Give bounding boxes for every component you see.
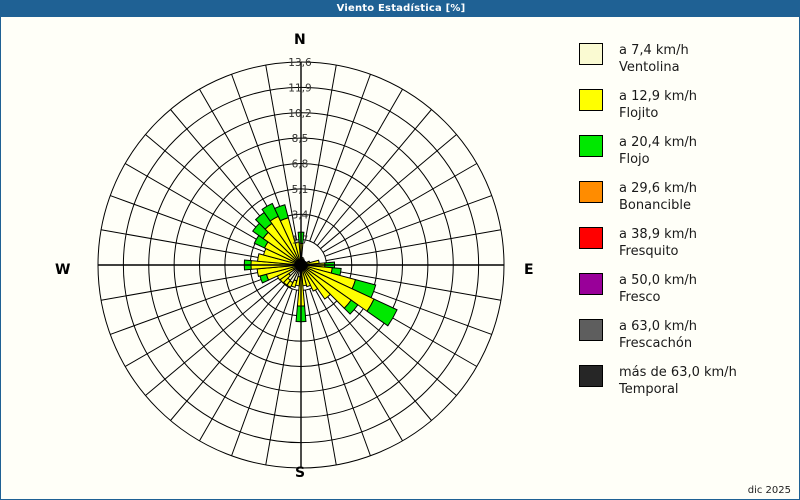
radial-tick-label: 5,1	[292, 184, 309, 196]
compass-label-east: E	[524, 262, 534, 278]
legend-speed-label: a 7,4 km/h	[619, 43, 689, 58]
radial-tick-label: 8,5	[292, 133, 309, 145]
legend-name-label: Frescachón	[619, 335, 697, 352]
legend-label: a 50,0 km/hFresco	[619, 272, 697, 306]
legend-item: a 7,4 km/hVentolina	[579, 42, 793, 80]
legend-label: a 7,4 km/hVentolina	[619, 42, 689, 76]
legend-speed-label: más de 63,0 km/h	[619, 365, 737, 380]
legend-speed-label: a 38,9 km/h	[619, 227, 697, 242]
legend-color-swatch	[579, 273, 603, 295]
legend-name-label: Fresco	[619, 289, 697, 306]
legend-label: a 63,0 km/hFrescachón	[619, 318, 697, 352]
legend-item: más de 63,0 km/hTemporal	[579, 364, 793, 402]
window-title-bar: Viento Estadística [%]	[1, 1, 800, 17]
legend-name-label: Flojito	[619, 105, 697, 122]
legend-name-label: Flojo	[619, 151, 697, 168]
legend-name-label: Ventolina	[619, 59, 689, 76]
legend-name-label: Fresquito	[619, 243, 697, 260]
legend-label: a 38,9 km/hFresquito	[619, 226, 697, 260]
legend-label: a 20,4 km/hFlojo	[619, 134, 697, 168]
radial-tick-label: 11,9	[288, 82, 311, 94]
radial-tick-label: 6,8	[292, 159, 309, 171]
wind-speed-legend: a 7,4 km/hVentolinaa 12,9 km/hFlojitoa 2…	[579, 42, 793, 410]
radial-tick-label: 3,4	[292, 209, 309, 221]
legend-speed-label: a 12,9 km/h	[619, 89, 697, 104]
legend-speed-label: a 63,0 km/h	[619, 319, 697, 334]
wind-statistics-window: Viento Estadística [%] 1,73,45,16,88,510…	[0, 0, 800, 500]
legend-speed-label: a 50,0 km/h	[619, 273, 697, 288]
chart-canvas: 1,73,45,16,88,510,211,913,6 N S W E a 7,…	[1, 18, 799, 499]
radial-tick-label: 1,7	[292, 235, 309, 247]
wind-rose-plot: 1,73,45,16,88,510,211,913,6	[1, 18, 579, 499]
legend-item: a 38,9 km/hFresquito	[579, 226, 793, 264]
legend-color-swatch	[579, 181, 603, 203]
radial-tick-label: 13,6	[288, 57, 312, 69]
legend-label: más de 63,0 km/hTemporal	[619, 364, 737, 398]
legend-color-swatch	[579, 135, 603, 157]
legend-color-swatch	[579, 227, 603, 249]
legend-color-swatch	[579, 365, 603, 387]
legend-speed-label: a 20,4 km/h	[619, 135, 697, 150]
legend-name-label: Temporal	[619, 381, 737, 398]
compass-label-west: W	[55, 262, 70, 278]
legend-label: a 29,6 km/hBonancible	[619, 180, 697, 214]
legend-item: a 29,6 km/hBonancible	[579, 180, 793, 218]
radial-tick-labels: 1,73,45,16,88,510,211,913,6	[288, 57, 312, 247]
compass-label-north: N	[294, 32, 306, 48]
legend-item: a 12,9 km/hFlojito	[579, 88, 793, 126]
legend-color-swatch	[579, 319, 603, 341]
legend-item: a 20,4 km/hFlojo	[579, 134, 793, 172]
period-label: dic 2025	[748, 485, 791, 496]
polar-axis-lines	[98, 62, 504, 468]
legend-name-label: Bonancible	[619, 197, 697, 214]
compass-label-south: S	[295, 465, 305, 481]
legend-label: a 12,9 km/hFlojito	[619, 88, 697, 122]
radial-tick-label: 10,2	[288, 108, 311, 120]
legend-color-swatch	[579, 89, 603, 111]
legend-item: a 50,0 km/hFresco	[579, 272, 793, 310]
legend-color-swatch	[579, 43, 603, 65]
legend-speed-label: a 29,6 km/h	[619, 181, 697, 196]
legend-item: a 63,0 km/hFrescachón	[579, 318, 793, 356]
